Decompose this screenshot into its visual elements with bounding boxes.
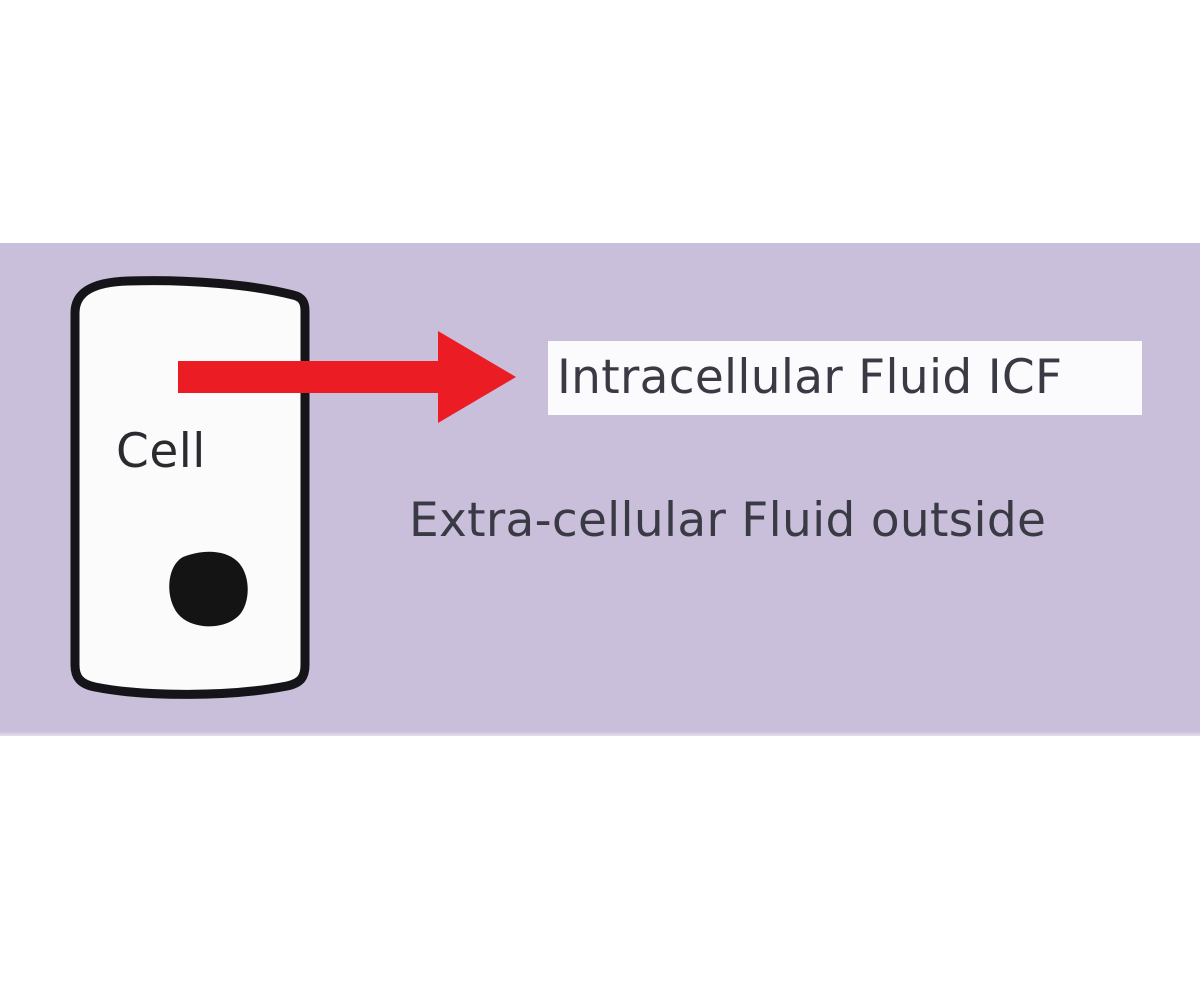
arrow-icon bbox=[172, 325, 524, 429]
band-bottom-edge bbox=[0, 731, 1200, 736]
arrow-shape bbox=[178, 331, 516, 423]
diagram-canvas: Cell Intracellular Fluid ICF Extra-cellu… bbox=[0, 0, 1200, 981]
cell-label: Cell bbox=[116, 424, 206, 480]
intracellular-fluid-highlight: Intracellular Fluid ICF bbox=[548, 341, 1142, 415]
extracellular-fluid-label: Extra-cellular Fluid outside bbox=[409, 492, 1046, 550]
nucleus-icon bbox=[169, 552, 247, 627]
intracellular-fluid-label: Intracellular Fluid ICF bbox=[557, 350, 1062, 406]
